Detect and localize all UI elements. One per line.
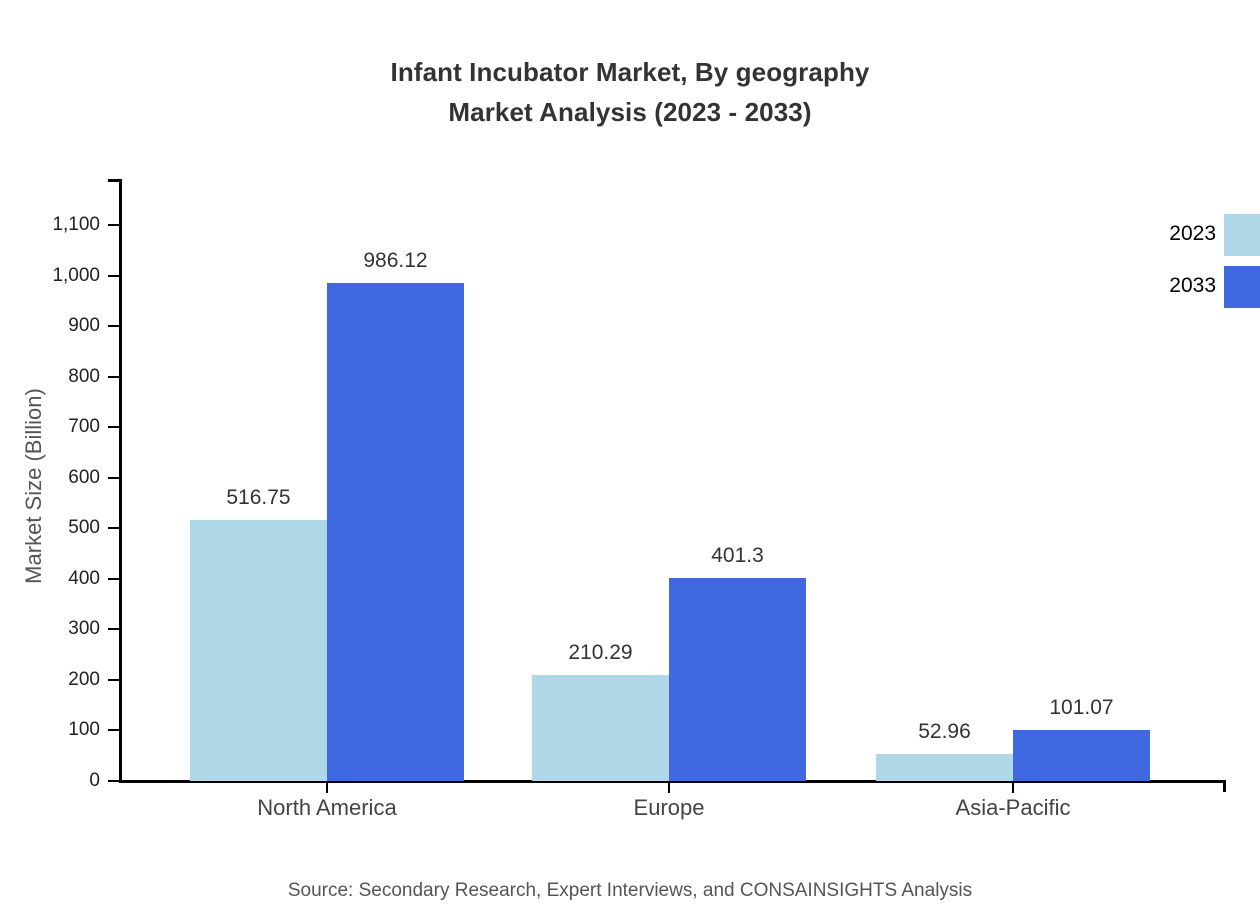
bar-chart: Infant Incubator Market, By geography Ma…: [0, 0, 1260, 920]
legend-swatch-icon: [1224, 266, 1260, 308]
chart-title: Infant Incubator Market, By geography Ma…: [0, 52, 1260, 132]
x-axis-tick: [668, 781, 670, 793]
bar-value-label: 52.96: [876, 721, 1013, 742]
x-axis-category-label: Europe: [519, 795, 819, 821]
bar-2023-europe[interactable]: [532, 675, 669, 781]
chart-title-line1: Infant Incubator Market, By geography: [391, 57, 870, 87]
legend-label: 2023: [1130, 223, 1216, 245]
bar-value-label: 401.3: [669, 545, 806, 566]
y-axis-tick-label: 900: [68, 316, 100, 335]
bar-value-label: 101.07: [1013, 697, 1150, 718]
y-axis-tick-label: 800: [68, 367, 100, 386]
bar-value-label: 986.12: [327, 250, 464, 271]
y-axis-tick: [108, 729, 120, 731]
y-axis-tick: [108, 325, 120, 327]
y-axis-top-cap: [108, 179, 120, 182]
legend: 20232033: [1130, 214, 1260, 310]
y-axis-tick: [108, 224, 120, 226]
y-axis-tick-label: 400: [68, 569, 100, 588]
bar-2033-north-america[interactable]: [327, 283, 464, 781]
y-axis-title: Market Size (Billion): [22, 346, 46, 626]
y-axis-tick: [108, 628, 120, 630]
bar-2033-europe[interactable]: [669, 578, 806, 781]
bar-2023-north-america[interactable]: [190, 520, 327, 781]
legend-label: 2033: [1130, 275, 1216, 297]
source-note: Source: Secondary Research, Expert Inter…: [0, 879, 1260, 903]
y-axis-tick: [108, 426, 120, 428]
y-axis-tick-label: 300: [68, 619, 100, 638]
y-axis-line: [119, 179, 122, 782]
y-axis-tick: [108, 477, 120, 479]
y-axis-tick: [108, 780, 120, 782]
y-axis-tick-label: 1,000: [52, 266, 100, 285]
x-axis-category-label: North America: [177, 795, 477, 821]
legend-item-2023[interactable]: 2023: [1130, 214, 1260, 256]
bar-2033-asia-pacific[interactable]: [1013, 730, 1150, 781]
y-axis-tick-label: 600: [68, 468, 100, 487]
y-axis-tick-label: 100: [68, 720, 100, 739]
x-axis-tick: [1012, 781, 1014, 793]
y-axis-tick: [108, 275, 120, 277]
x-axis-end-cap: [1223, 780, 1226, 792]
bar-value-label: 210.29: [532, 642, 669, 663]
y-axis-tick: [108, 527, 120, 529]
y-axis-tick: [108, 578, 120, 580]
y-axis-tick-label: 1,100: [52, 215, 100, 234]
y-axis-tick-label: 700: [68, 417, 100, 436]
x-axis-tick: [326, 781, 328, 793]
y-axis-tick: [108, 679, 120, 681]
y-axis-tick-label: 500: [68, 518, 100, 537]
legend-swatch-icon: [1224, 214, 1260, 256]
legend-item-2033[interactable]: 2033: [1130, 266, 1260, 308]
chart-title-line2: Market Analysis (2023 - 2033): [0, 92, 1260, 132]
bar-value-label: 516.75: [190, 487, 327, 508]
y-axis-tick-label: 200: [68, 670, 100, 689]
x-axis-category-label: Asia-Pacific: [863, 795, 1163, 821]
y-axis-tick-label: 0: [89, 771, 100, 790]
y-axis-tick: [108, 376, 120, 378]
bar-2023-asia-pacific[interactable]: [876, 754, 1013, 781]
